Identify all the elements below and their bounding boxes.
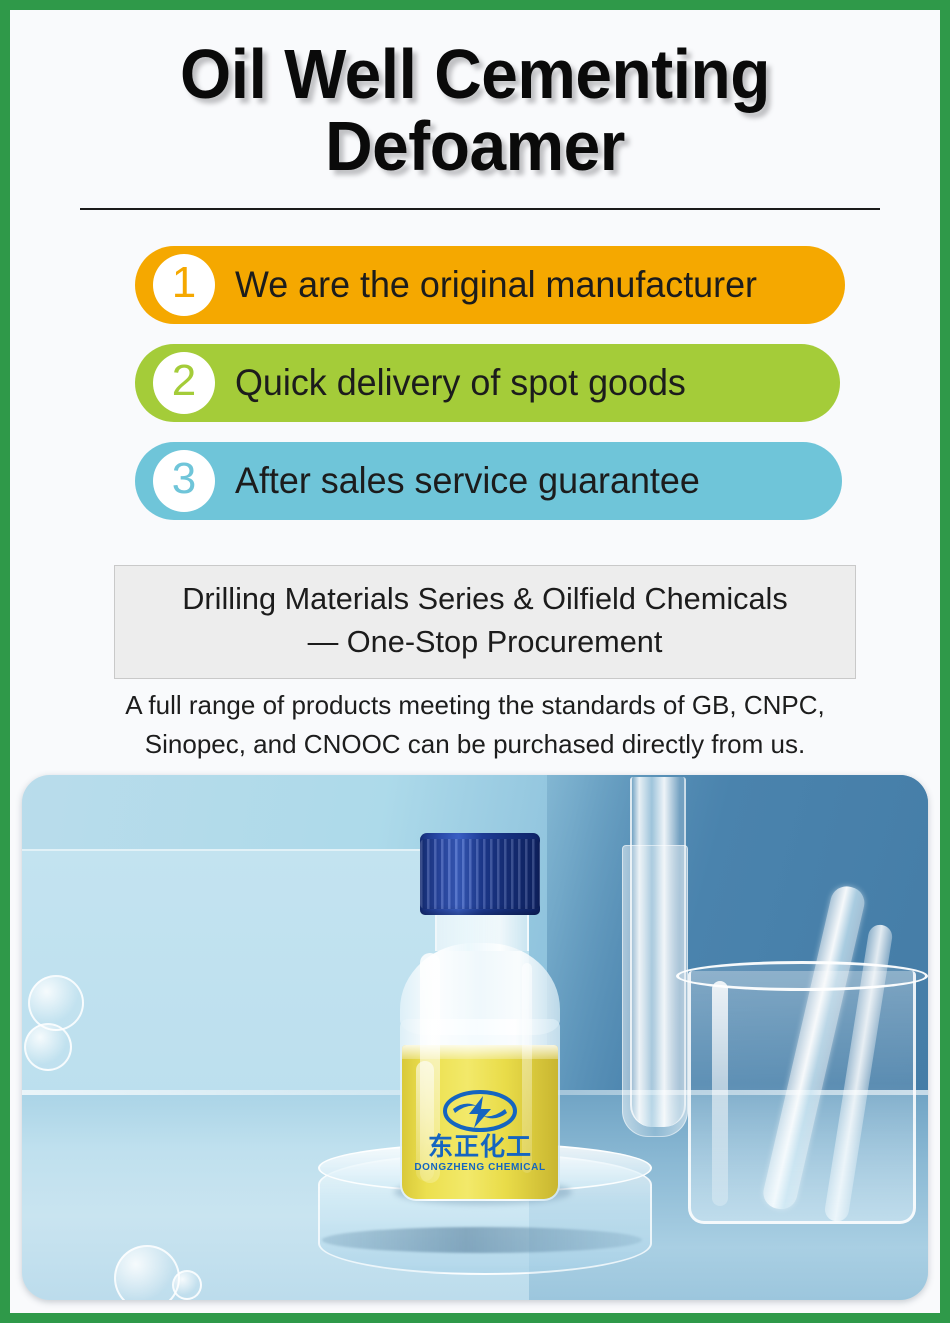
title-line-2: Defoamer xyxy=(38,110,912,182)
brand-name-cn: 东正化工 xyxy=(412,1135,548,1160)
list-item: 3 After sales service guarantee xyxy=(10,442,940,520)
feature-label-2: Quick delivery of spot goods xyxy=(235,344,686,422)
bubble-icon xyxy=(172,1270,202,1300)
list-item: 1 We are the original manufacturer xyxy=(10,246,940,324)
blurb: A full range of products meeting the sta… xyxy=(10,686,940,764)
tagline-box: Drilling Materials Series & Oilfield Che… xyxy=(114,565,856,679)
beaker-highlight xyxy=(712,981,728,1206)
feature-list: 1 We are the original manufacturer 2 Qui… xyxy=(10,246,940,540)
dongzheng-logo-icon xyxy=(443,1089,517,1133)
tagline-line-1: Drilling Materials Series & Oilfield Che… xyxy=(133,578,838,621)
bottle-cap-ridges xyxy=(420,839,540,909)
pedestal-shadow xyxy=(322,1227,642,1253)
page-title: Oil Well Cementing Defoamer xyxy=(10,38,940,182)
title-line-1: Oil Well Cementing xyxy=(38,38,912,110)
feature-number-badge-1: 1 xyxy=(153,254,215,316)
bottle-neck xyxy=(435,909,529,951)
brand-name-en: DONGZHENG CHEMICAL xyxy=(412,1162,548,1173)
feature-label-3: After sales service guarantee xyxy=(235,442,700,520)
feature-number-badge-2: 2 xyxy=(153,352,215,414)
tagline-line-2: — One-Stop Procurement xyxy=(133,621,838,664)
feature-pill-1[interactable]: 1 We are the original manufacturer xyxy=(135,246,845,324)
feature-label-1: We are the original manufacturer xyxy=(235,246,757,324)
feature-pill-3[interactable]: 3 After sales service guarantee xyxy=(135,442,842,520)
bubble-icon xyxy=(24,1023,72,1071)
feature-number-badge-3: 3 xyxy=(153,450,215,512)
product-bottle: 东正化工 DONGZHENG CHEMICAL xyxy=(390,833,570,1201)
blurb-line-1: A full range of products meeting the sta… xyxy=(10,686,940,725)
feature-pill-2[interactable]: 2 Quick delivery of spot goods xyxy=(135,344,840,422)
product-photo: 东正化工 DONGZHENG CHEMICAL xyxy=(22,775,928,1300)
title-divider xyxy=(80,208,880,210)
brand-label: 东正化工 DONGZHENG CHEMICAL xyxy=(412,1089,548,1173)
photo-scene: 东正化工 DONGZHENG CHEMICAL xyxy=(22,775,928,1300)
product-poster: Oil Well Cementing Defoamer 1 We are the… xyxy=(0,0,950,1323)
list-item: 2 Quick delivery of spot goods xyxy=(10,344,940,422)
blurb-line-2: Sinopec, and CNOOC can be purchased dire… xyxy=(10,725,940,764)
glass-test-tube-back xyxy=(622,845,688,1137)
bubble-icon xyxy=(28,975,84,1031)
poster-inner: Oil Well Cementing Defoamer 1 We are the… xyxy=(10,10,940,1313)
